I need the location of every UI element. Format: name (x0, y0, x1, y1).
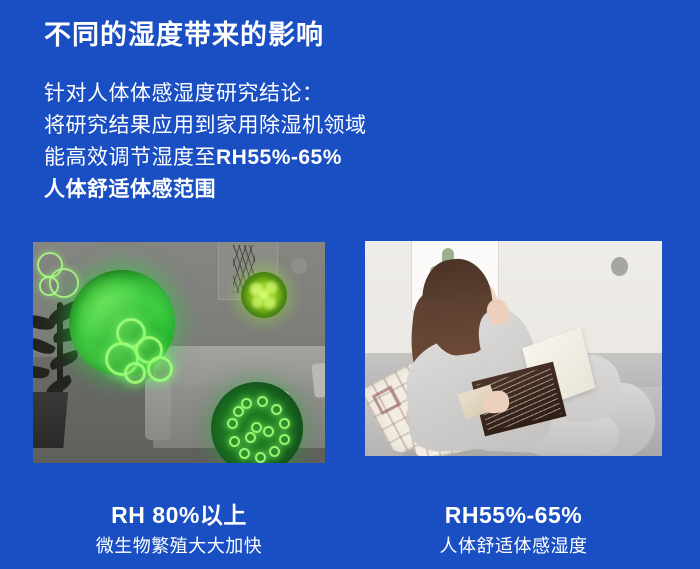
poster-root: 不同的湿度带来的影响 针对人体体感湿度研究结论： 将研究结果应用到家用除湿机领域… (0, 0, 700, 569)
photo-high-humidity (33, 242, 325, 463)
microbe-corona-sphere (211, 382, 303, 463)
caption-high-humidity: RH 80%以上 微生物繁殖大大加快 (33, 500, 325, 560)
intro-humidity-range: RH55%-65% (216, 146, 342, 169)
intro-line-1: 针对人体体感湿度研究结论： (44, 78, 367, 110)
dim-sofa-backrest (161, 346, 325, 386)
dim-sofa-armrest (145, 378, 171, 440)
caption-left-main: RH 80%以上 (33, 500, 325, 530)
caption-comfort-humidity: RH55%-65% 人体舒适体感湿度 (365, 500, 662, 560)
intro-paragraph: 针对人体体感湿度研究结论： 将研究结果应用到家用除湿机领域 能高效调节湿度至RH… (44, 78, 367, 206)
intro-line-4: 人体舒适体感范围 (44, 174, 367, 206)
microbe-small-sphere (241, 272, 287, 318)
dim-cushion (311, 360, 325, 398)
caption-left-sub: 微生物繁殖大大加快 (33, 532, 325, 560)
intro-line-3: 能高效调节湿度至RH55%-65% (44, 142, 367, 174)
microbe-large-sphere (69, 270, 175, 376)
page-title: 不同的湿度带来的影响 (44, 19, 324, 53)
dim-wall-knob-icon (291, 258, 307, 274)
photo-comfort-humidity (365, 241, 662, 456)
dim-room-scene (33, 242, 325, 463)
caption-right-sub: 人体舒适体感湿度 (365, 532, 662, 560)
caption-right-main: RH55%-65% (365, 500, 662, 530)
intro-line-2: 将研究结果应用到家用除湿机领域 (44, 110, 367, 142)
bright-wall-knob-icon (611, 257, 628, 276)
intro-line-3-prefix: 能高效调节湿度至 (44, 146, 216, 169)
bright-room-scene (365, 241, 662, 456)
